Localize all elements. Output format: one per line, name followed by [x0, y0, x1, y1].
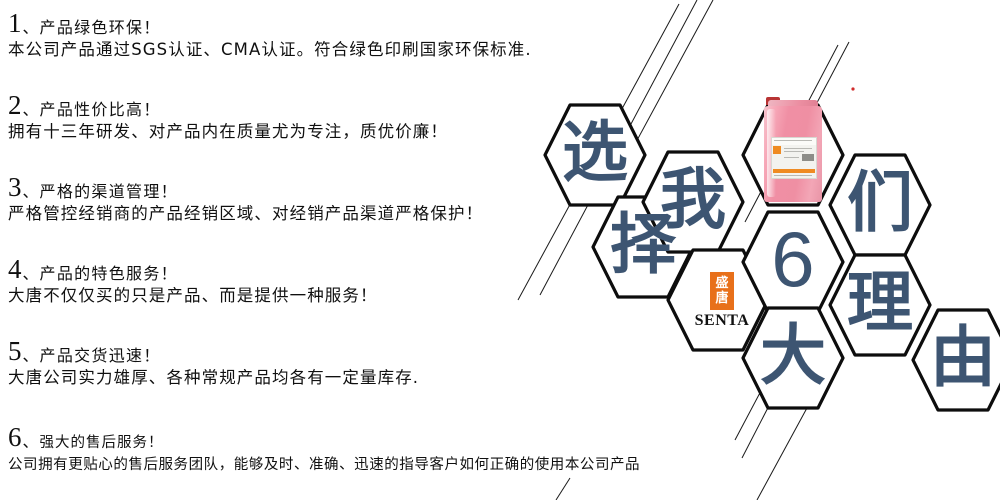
hex-label-six: 6	[743, 220, 843, 298]
reason-2-title: 产品性价比高！	[40, 100, 161, 120]
reason-3-heading: 3 、 严格的渠道管理！	[8, 174, 668, 201]
product-label-line-top	[774, 140, 812, 141]
reason-3-title: 严格的渠道管理！	[40, 182, 178, 202]
reason-1-heading: 1 、 产品绿色环保！	[8, 10, 668, 37]
reason-1-title: 产品绿色环保！	[40, 18, 161, 38]
hex-label-you: 由	[913, 325, 1000, 391]
reason-2-body: 拥有十三年研发、对产品内在质量尤为专注，质优价廉！	[8, 121, 668, 143]
reason-5-heading: 5 、 产品交货迅速！	[8, 338, 668, 365]
reason-3-separator: 、	[23, 182, 39, 202]
reason-2-separator: 、	[23, 100, 39, 120]
reason-6-separator: 、	[23, 432, 39, 452]
reason-6-heading: 6 、 强大的售后服务！	[8, 424, 668, 452]
reason-5-number: 5	[8, 338, 22, 365]
hexagon-logo-shape	[668, 250, 768, 350]
brand-logo: 盛 唐 SENTA	[692, 272, 752, 334]
reason-6-body: 公司拥有更贴心的售后服务团队，能够及时、准确、迅速的指导客户如何正确的使用本公司…	[8, 454, 668, 476]
brand-wordmark: SENTA	[692, 312, 752, 329]
product-photo	[760, 97, 826, 204]
reason-4-separator: 、	[23, 264, 39, 284]
product-label-grey-block	[802, 154, 814, 161]
hexagon-six-shape	[743, 212, 843, 312]
hexagon-li-shape	[830, 255, 930, 355]
hex-label-li: 理	[830, 270, 930, 336]
brand-logo-mark: 盛 唐	[710, 272, 734, 310]
reason-3-body: 严格管控经销商的产品经销区域、对经销产品渠道严格保护！	[8, 203, 668, 225]
reason-item-5: 5 、 产品交货迅速！ 大唐公司实力雄厚、各种常规产品均各有一定量库存.	[8, 338, 668, 389]
reasons-list: 1 、 产品绿色环保！ 本公司产品通过SGS认证、CMA认证。符合绿色印刷国家环…	[8, 0, 668, 500]
reason-5-body: 大唐公司实力雄厚、各种常规产品均各有一定量库存.	[8, 367, 668, 389]
product-label-orange-bar	[773, 169, 815, 173]
reason-item-3: 3 、 严格的渠道管理！ 严格管控经销商的产品经销区域、对经销产品渠道严格保护！	[8, 174, 668, 225]
product-label-line-bottom	[774, 175, 812, 176]
product-label-orange-block	[773, 146, 781, 154]
product-label-line-2	[784, 151, 804, 152]
reason-1-body: 本公司产品通过SGS认证、CMA认证。符合绿色印刷国家环保标准.	[8, 39, 668, 61]
promo-banner: 1 、 产品绿色环保！ 本公司产品通过SGS认证、CMA认证。符合绿色印刷国家环…	[0, 0, 1000, 500]
product-label	[771, 137, 817, 179]
reason-4-body: 大唐不仅仅买的只是产品、而是提供一种服务！	[8, 285, 668, 307]
reason-6-number: 6	[8, 424, 22, 451]
reason-4-title: 产品的特色服务！	[40, 264, 178, 284]
reason-5-title: 产品交货迅速！	[40, 346, 161, 366]
hexagon-da-shape	[743, 308, 843, 408]
reason-1-number: 1	[8, 10, 22, 37]
reason-item-2: 2 、 产品性价比高！ 拥有十三年研发、对产品内在质量尤为专注，质优价廉！	[8, 92, 668, 143]
brand-logo-char-top: 盛	[715, 276, 728, 291]
reason-4-number: 4	[8, 256, 22, 283]
reason-item-4: 4 、 产品的特色服务！ 大唐不仅仅买的只是产品、而是提供一种服务！	[8, 256, 668, 307]
reason-2-heading: 2 、 产品性价比高！	[8, 92, 668, 119]
hex-label-da: 大	[743, 323, 843, 389]
reason-item-6: 6 、 强大的售后服务！ 公司拥有更贴心的售后服务团队，能够及时、准确、迅速的指…	[8, 424, 668, 476]
product-label-line-1	[784, 148, 812, 149]
hexagon-men-shape	[830, 155, 930, 255]
reason-6-title: 强大的售后服务！	[40, 433, 164, 453]
reason-3-number: 3	[8, 174, 22, 201]
hexagon-you-shape	[913, 310, 1000, 410]
reason-5-separator: 、	[23, 346, 39, 366]
reason-item-1: 1 、 产品绿色环保！ 本公司产品通过SGS认证、CMA认证。符合绿色印刷国家环…	[8, 10, 668, 61]
reason-2-number: 2	[8, 92, 22, 119]
brand-logo-char-bottom: 唐	[715, 291, 728, 306]
product-label-line-3	[784, 157, 799, 158]
reason-4-heading: 4 、 产品的特色服务！	[8, 256, 668, 283]
hex-label-men: 们	[830, 170, 930, 236]
reason-1-separator: 、	[23, 18, 39, 38]
